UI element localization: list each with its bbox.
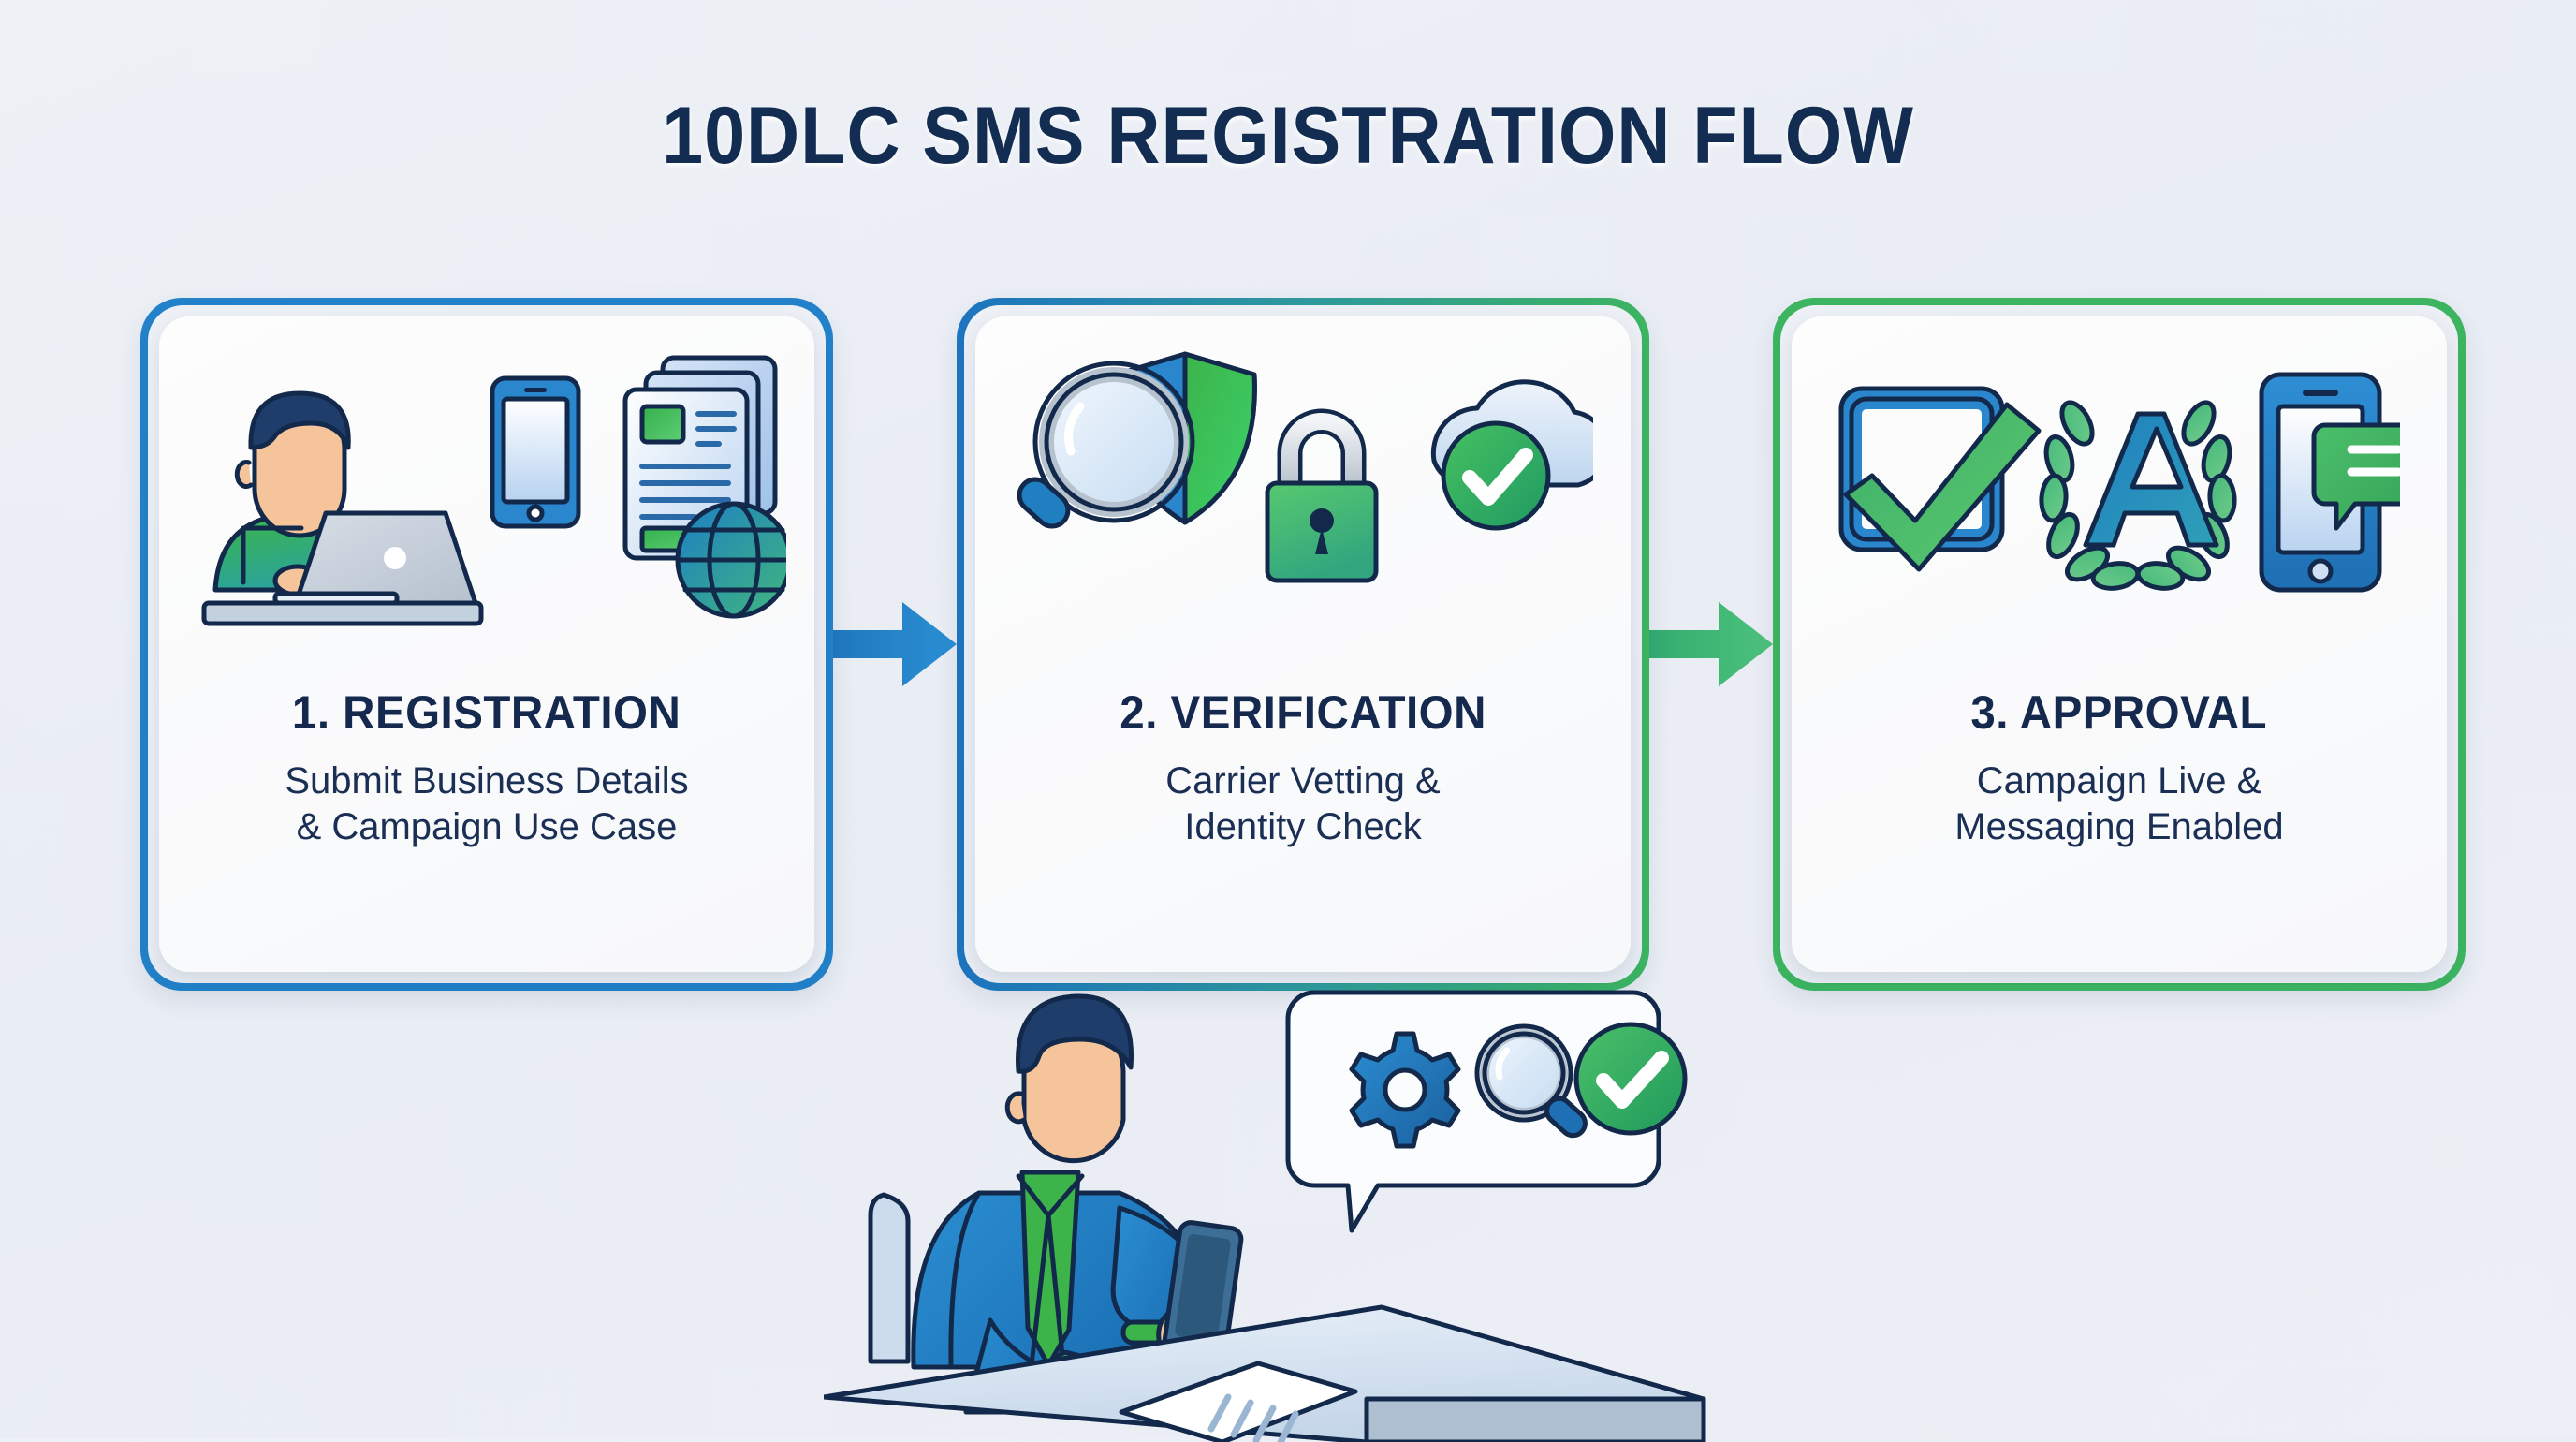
approval-illustration <box>1792 316 2447 682</box>
person-at-laptop-icon <box>204 393 481 624</box>
laurel-wreath-a-icon <box>2040 398 2235 592</box>
arrow-step1-to-step2 <box>833 298 957 991</box>
step-subtitle-line-1: Submit Business Details <box>285 758 688 804</box>
checkbox-check-icon <box>1841 389 2039 569</box>
step-subtitle-line-2: Identity Check <box>1165 804 1440 850</box>
step-subtitle: Carrier Vetting & Identity Check <box>1165 758 1440 850</box>
padlock-icon <box>1267 421 1376 581</box>
globe-icon <box>678 504 786 616</box>
businessman-at-desk-illustration <box>824 974 1797 1442</box>
verification-illustration <box>975 316 1631 682</box>
phone-message-icon <box>2261 375 2400 590</box>
steps-row: 1. REGISTRATION Submit Business Details … <box>140 298 2443 991</box>
step-card-registration[interactable]: 1. REGISTRATION Submit Business Details … <box>140 298 833 991</box>
smartphone-icon <box>492 378 578 526</box>
step-heading: 1. REGISTRATION <box>292 685 681 740</box>
cloud-check-icon <box>1433 382 1593 528</box>
step-card-approval[interactable]: 3. APPROVAL Campaign Live & Messaging En… <box>1773 298 2466 991</box>
step-heading: 3. APPROVAL <box>1971 685 2268 740</box>
step-subtitle-line-2: Messaging Enabled <box>1954 804 2283 850</box>
arrow-step2-to-step3 <box>1649 298 1773 991</box>
page-title: 10DLC SMS REGISTRATION FLOW <box>103 90 2473 183</box>
step-card-verification[interactable]: 2. VERIFICATION Carrier Vetting & Identi… <box>957 298 1649 991</box>
green-check-circle-icon <box>1576 1024 1685 1133</box>
step-subtitle: Submit Business Details & Campaign Use C… <box>285 758 688 850</box>
speech-bubble <box>1288 993 1685 1230</box>
step-heading: 2. VERIFICATION <box>1120 685 1486 740</box>
step-subtitle-line-2: & Campaign Use Case <box>285 804 688 850</box>
step-subtitle-line-1: Campaign Live & <box>1954 758 2283 804</box>
chair-icon <box>871 1195 908 1361</box>
step-subtitle-line-1: Carrier Vetting & <box>1165 758 1440 804</box>
registration-illustration <box>159 316 814 682</box>
step-subtitle: Campaign Live & Messaging Enabled <box>1954 758 2283 850</box>
